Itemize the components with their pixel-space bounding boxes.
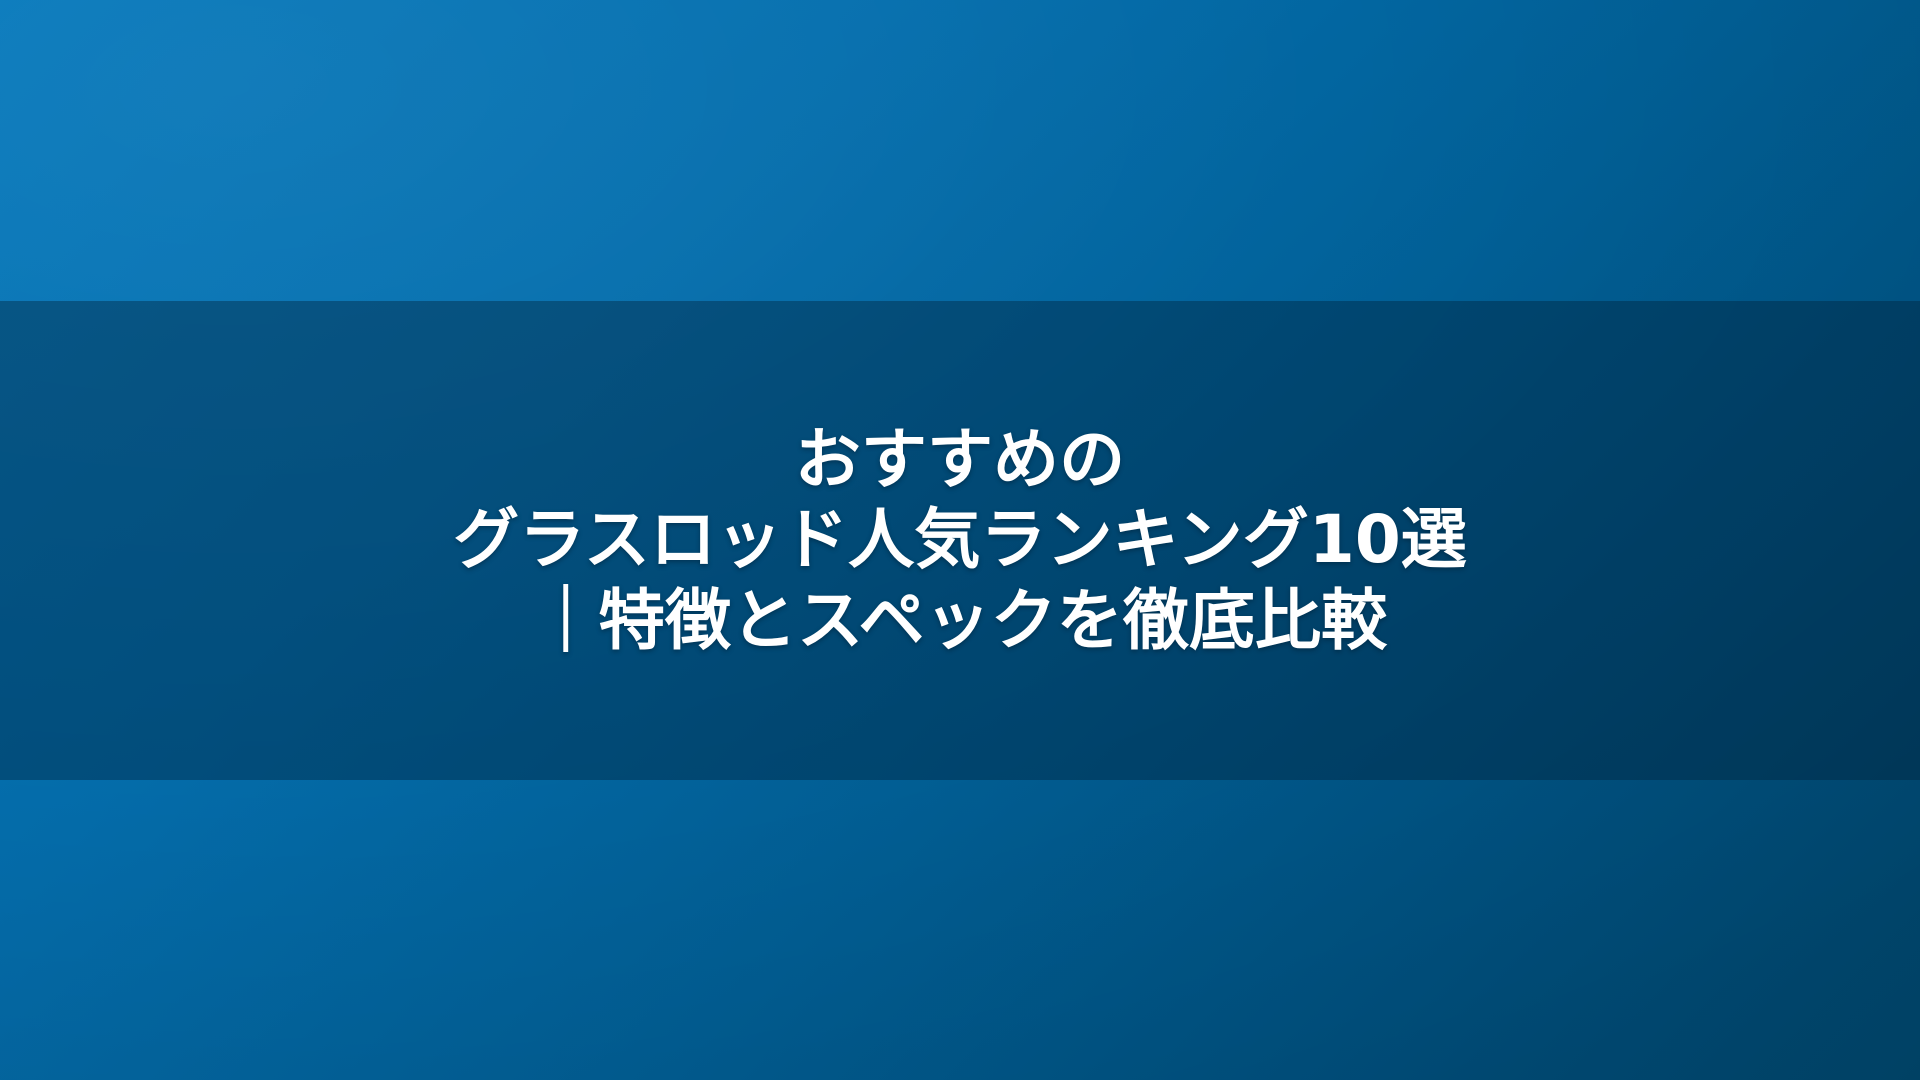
title-line-1: おすすめの — [40, 420, 1880, 501]
title-overlay-band: おすすめの グラスロッド人気ランキング10選 ｜特徴とスペックを徹底比較 — [0, 301, 1920, 780]
title-line-3: ｜特徴とスペックを徹底比較 — [40, 581, 1880, 662]
page-title: おすすめの グラスロッド人気ランキング10選 ｜特徴とスペックを徹底比較 — [0, 420, 1920, 662]
title-line-2: グラスロッド人気ランキング10選 — [40, 500, 1880, 581]
article-title-card: おすすめの グラスロッド人気ランキング10選 ｜特徴とスペックを徹底比較 — [0, 0, 1920, 1080]
